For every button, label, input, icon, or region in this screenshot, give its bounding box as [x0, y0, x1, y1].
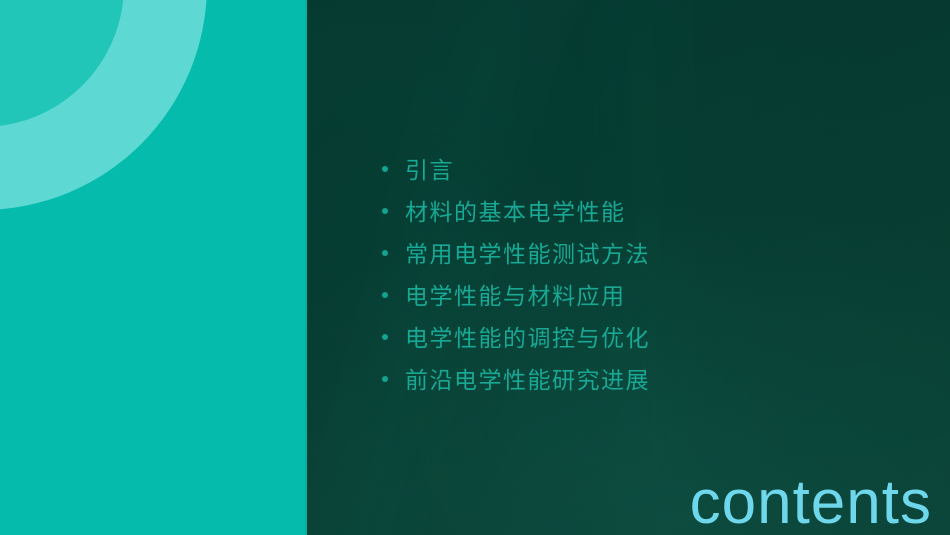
bullet-dot-icon [382, 250, 388, 256]
list-item-label: 前沿电学性能研究进展 [405, 361, 650, 395]
bullet-dot-icon [382, 334, 388, 340]
panel-edge-divider [305, 0, 307, 535]
contents-wordmark: contents [690, 472, 932, 534]
page-title: 目 录 [92, 300, 262, 535]
bullet-dot-icon [382, 208, 388, 214]
left-accent-panel: 目 录 [0, 0, 307, 535]
list-item[interactable]: 引言 [382, 147, 902, 189]
bullet-dot-icon [382, 376, 388, 382]
list-item[interactable]: 常用电学性能测试方法 [382, 231, 902, 273]
presentation-slide: 目 录 引言 材料的基本电学性能 常用电学性能测试方法 电学性能与材料应用 电学… [0, 0, 950, 535]
list-item-label: 电学性能的调控与优化 [405, 319, 650, 353]
list-item-label: 材料的基本电学性能 [405, 193, 626, 227]
list-item-label: 引言 [405, 151, 454, 185]
list-item[interactable]: 材料的基本电学性能 [382, 189, 902, 231]
list-item[interactable]: 电学性能与材料应用 [382, 273, 902, 315]
list-item[interactable]: 电学性能的调控与优化 [382, 315, 902, 357]
bullet-dot-icon [382, 166, 388, 172]
list-item[interactable]: 前沿电学性能研究进展 [382, 357, 902, 399]
list-item-label: 常用电学性能测试方法 [405, 235, 650, 269]
table-of-contents-list: 引言 材料的基本电学性能 常用电学性能测试方法 电学性能与材料应用 电学性能的调… [382, 147, 902, 399]
list-item-label: 电学性能与材料应用 [405, 277, 626, 311]
page-title-char-1: 目 [92, 530, 262, 535]
bullet-dot-icon [382, 292, 388, 298]
